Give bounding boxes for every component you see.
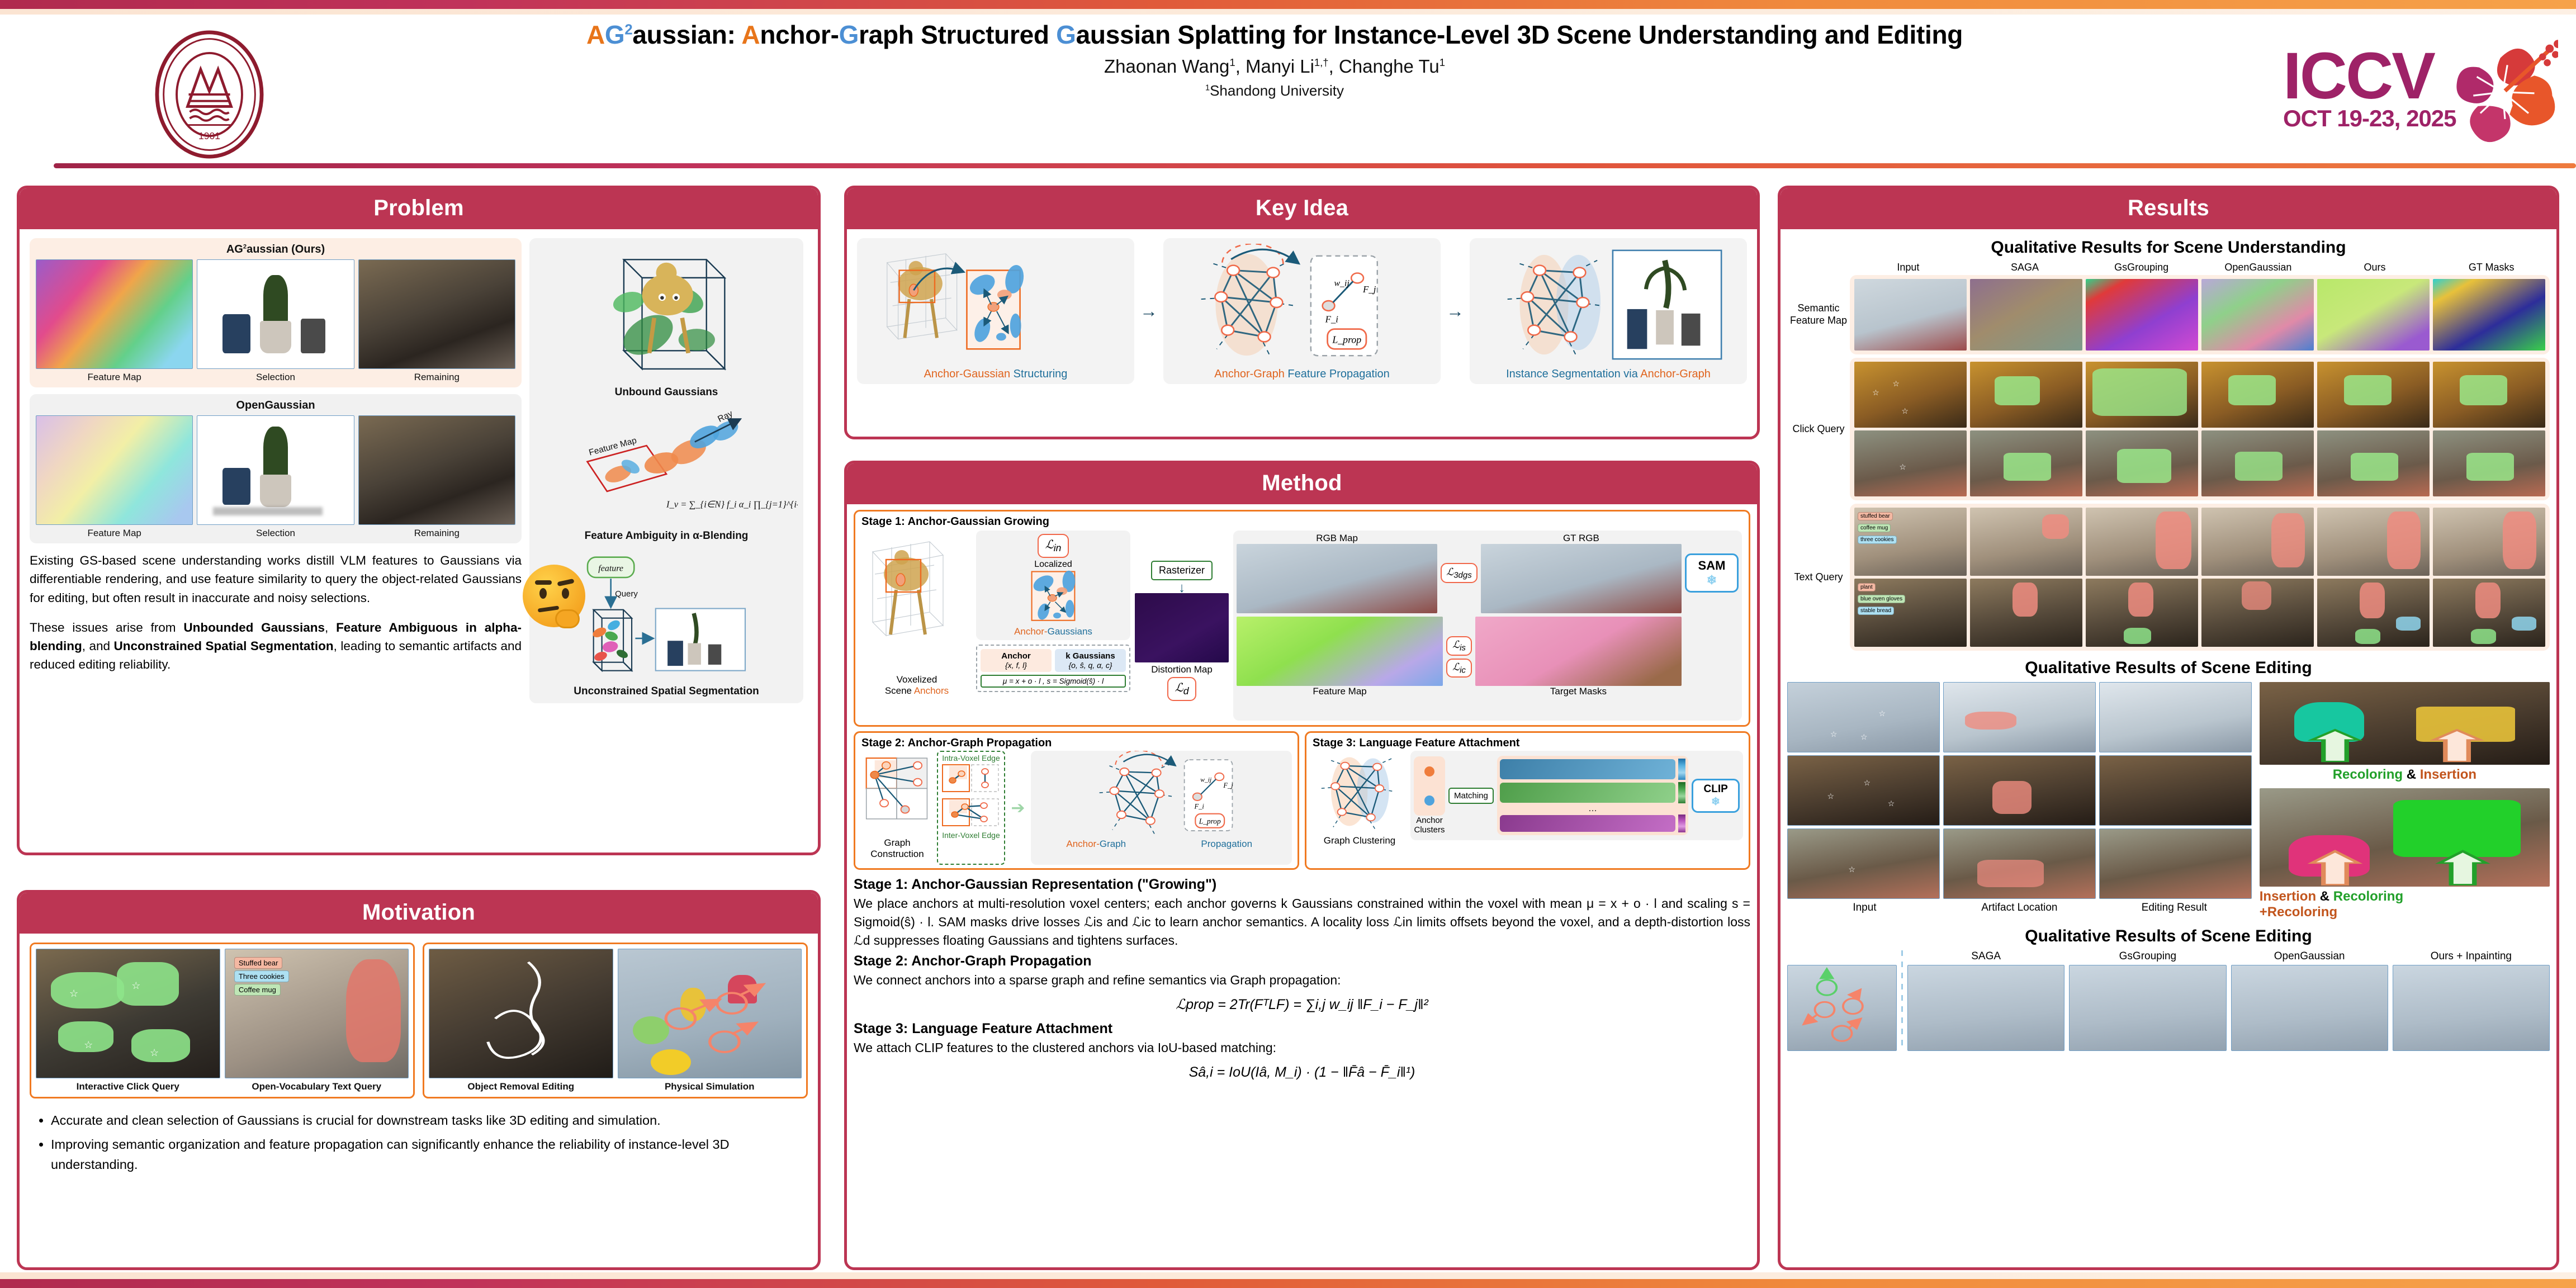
- feature-i-label: F_i: [1325, 314, 1339, 325]
- editing-showcase: Recoloring & Insertion Insertion & Recol…: [2260, 682, 2550, 920]
- result-image: [2201, 430, 2314, 496]
- p2-mid-2: , and: [82, 639, 114, 653]
- column-header: SAGA: [1907, 950, 2064, 965]
- motivation-cell: Stuffed bear Three cookies Coffee mug Op…: [225, 949, 409, 1092]
- result-image: [1854, 279, 1967, 351]
- voxelized-scene-anchors: Voxelized Scene Anchors: [862, 531, 972, 721]
- image-feature-map-opengaussian: [36, 415, 193, 525]
- comparison-card-ours-title: AG2aussian (Ours): [36, 243, 515, 256]
- bottom-gradient-bar-2: [0, 1272, 2576, 1279]
- result-image: ☆: [1854, 430, 1967, 496]
- header-divider: [54, 163, 2576, 168]
- comparison-cell: Remaining: [358, 415, 515, 539]
- table-row: ☆ ☆ ☆: [1787, 682, 2252, 752]
- image-feature-map-ours: [36, 259, 193, 369]
- image-caption: Open-Vocabulary Text Query: [225, 1081, 409, 1092]
- result-image: [2393, 965, 2550, 1051]
- method-stage-2-equation: ℒprop = 2Tr(FᵀLF) = ∑i,j w_ij ‖F_i − F_j…: [854, 996, 1750, 1013]
- panel-method: Method Stage 1: Anchor-Gaussian Growing: [844, 461, 1760, 1270]
- anchor-cluster-dot-blue: [1424, 795, 1434, 806]
- result-image: ☆ ☆ ☆: [1787, 755, 1940, 826]
- voxelized-caption-line2: Scene Anchors: [862, 685, 972, 697]
- column-header: Input: [1850, 262, 1967, 273]
- image-caption: Selection: [197, 528, 354, 539]
- results-understanding-title: Qualitative Results for Scene Understand…: [1787, 238, 2550, 257]
- problem-paragraph-1: Existing GS-based scene understanding wo…: [30, 551, 522, 607]
- method-stage-1-title: Stage 1: Anchor-Gaussian Representation …: [854, 877, 1750, 893]
- image-selection-opengaussian: [197, 415, 354, 525]
- result-image: [2069, 965, 2226, 1051]
- loss-in-pill: ℒin: [1038, 534, 1069, 558]
- method-stage-3-body: We attach CLIP features to the clustered…: [854, 1039, 1750, 1057]
- problem-paragraph-2: These issues arise from Unbounded Gaussi…: [30, 618, 522, 674]
- query-tag: three cookies: [1858, 536, 1896, 544]
- inter-voxel-label: Inter-Voxel Edge: [940, 831, 1002, 840]
- poster-header: 1901 AG2aussian: Anchor-Graph Structured…: [0, 15, 2576, 163]
- column-header: OpenGaussian: [2231, 950, 2388, 965]
- comparison-cell: Selection: [197, 415, 354, 539]
- column-header: Artifact Location: [1942, 902, 2097, 914]
- table-row: stuffed bear coffee mug three cookies: [1854, 508, 2545, 576]
- target-masks-caption: Target Masks: [1475, 686, 1682, 697]
- label-recoloring: Recoloring: [2333, 889, 2403, 904]
- result-image: ☆ ☆ ☆: [1787, 682, 1940, 752]
- unconstrained-segmentation-caption: Unconstrained Spatial Segmentation: [535, 685, 798, 698]
- query-tag: Three cookies: [234, 970, 289, 982]
- result-image: [2099, 682, 2252, 752]
- rgb-map-caption: RGB Map: [1237, 533, 1437, 544]
- query-tag: blue oven gloves: [1858, 595, 1905, 603]
- query-tag: coffee mug: [1858, 524, 1891, 532]
- image-caption: Interactive Click Query: [36, 1081, 220, 1092]
- anchor-word: Anchor-: [1066, 839, 1100, 849]
- result-image: [2317, 362, 2430, 428]
- image-instance-1: [1500, 759, 1675, 779]
- image-open-vocabulary-text-query: Stuffed bear Three cookies Coffee mug: [225, 949, 409, 1078]
- method-stage-3-equation: Sâ,i = IoU(Iâ, M_i) · (1 − ‖F̄â − F̄_i‖¹…: [854, 1064, 1750, 1081]
- query-tag: stuffed bear: [1858, 512, 1893, 520]
- row-label-click-query: Click Query: [1787, 358, 1850, 500]
- panel-problem: Problem AG2aussian (Ours) Feature Map: [17, 186, 821, 855]
- author-list: Zhaonan Wang1, Manyi Li1,†, Changhe Tu1: [280, 56, 2270, 77]
- anchor-matching-block: Anchor Clusters Matching: [1410, 751, 1743, 840]
- title-block: AG2aussian: Anchor-Graph Structured Gaus…: [280, 21, 2270, 100]
- key-idea-step-2: w_ij F_j F_i L_prop Anchor-Graph Feature…: [1163, 238, 1441, 384]
- result-image: [1943, 828, 2096, 899]
- result-image: [2317, 508, 2430, 576]
- editing2-grid: SAGA GsGrouping OpenGaussian Ours + Inpa…: [1787, 950, 2550, 1051]
- result-image: [1970, 279, 2082, 351]
- insertion-recoloring-label: Insertion & Recoloring +Recoloring: [2260, 889, 2550, 920]
- result-image: [1943, 682, 2096, 752]
- comparison-cell: Selection: [197, 259, 354, 383]
- method-stage-2-body: We connect anchors into a sparse graph a…: [854, 971, 1750, 989]
- loss-is-pill: ℒis: [1446, 636, 1472, 656]
- label-plus-recoloring: +Recoloring: [2260, 905, 2550, 920]
- result-image: [1907, 965, 2064, 1051]
- query-tag: stable bread: [1858, 607, 1894, 615]
- affiliation: 1Shandong University: [280, 82, 2270, 100]
- image-physical-simulation: [618, 949, 802, 1078]
- column-header: Ours: [2317, 262, 2433, 273]
- graph-construction-block: Graph Construction: [861, 751, 934, 865]
- method-stage-3-diagram: Stage 3: Language Feature Attachment: [1305, 731, 1750, 870]
- rasterizer-block: Rasterizer ↓ Distortion Map ℒd: [1135, 531, 1229, 721]
- result-image: [1970, 430, 2082, 496]
- results-row-semantic-feature-map: SemanticFeature Map: [1787, 275, 2550, 354]
- result-image: [2317, 279, 2430, 351]
- panel-results-title: Results: [1781, 188, 2556, 229]
- result-image: [2086, 579, 2198, 647]
- top-gradient-bar: [0, 0, 2576, 9]
- editing-column-captions: Input Artifact Location Editing Result: [1787, 902, 2252, 914]
- clip-feature-vector-2: [1678, 782, 1685, 803]
- weight-label: w_ij: [1200, 776, 1211, 783]
- image-instance-2: [1500, 783, 1675, 803]
- alpha-blend-equation: I_v = ∑_{i∈N} f_i α_i ∏_{j=1}^{i-1} (1 −…: [666, 499, 798, 510]
- stage-1-label: Stage 1: Anchor-Gaussian Growing: [861, 515, 1049, 528]
- result-image: [2086, 279, 2198, 351]
- panel-motivation: Motivation ☆ ☆ ☆ ☆: [17, 890, 821, 1270]
- image-remaining-ours: [358, 259, 515, 369]
- stage-2-label: Stage 2: Anchor-Graph Propagation: [861, 737, 1052, 750]
- image-rgb-map: [1237, 544, 1437, 613]
- image-caption: Feature Map: [36, 372, 193, 383]
- column-header: Editing Result: [2097, 902, 2252, 914]
- comparison-cell: Feature Map: [36, 415, 193, 539]
- iccv-conference-logo-icon: ICCV OCT 19-23, 2025: [2279, 27, 2558, 159]
- legend-anchor-title: Anchor: [982, 651, 1050, 661]
- editing-grid: ☆ ☆ ☆ ☆ ☆ ☆: [1787, 682, 2252, 920]
- inter-voxel-edge-icon: [940, 797, 1002, 828]
- motivation-group-understanding: ☆ ☆ ☆ ☆ Interactive Click Query Stuffed …: [30, 943, 415, 1098]
- result-image: [2086, 508, 2198, 576]
- key-idea-caption-1: Anchor-Gaussian Structuring: [861, 368, 1130, 381]
- clip-feature-vector-3: [1678, 815, 1685, 832]
- anchor-gaussians-block: ℒin Localized: [976, 531, 1130, 721]
- anchors-word: Anchors: [914, 685, 949, 696]
- image-object-removal-editing: [429, 949, 613, 1078]
- result-image: [2433, 508, 2545, 576]
- result-image: [1970, 508, 2082, 576]
- label-amp: &: [2403, 767, 2420, 782]
- hibiscus-flower-icon: [2456, 40, 2558, 142]
- query-tag: plant: [1858, 583, 1876, 591]
- column-header: GsGrouping: [2083, 262, 2200, 273]
- comparison-card-opengaussian-title: OpenGaussian: [36, 399, 515, 412]
- clip-box: CLIP ❄: [1692, 779, 1740, 813]
- feature-j-label: F_j: [1223, 782, 1233, 789]
- image-recoloring-insertion: [2260, 682, 2550, 765]
- list-item: Accurate and clean selection of Gaussian…: [51, 1111, 808, 1130]
- distortion-map-caption: Distortion Map: [1135, 664, 1229, 675]
- intra-voxel-edge-icon: [940, 763, 1002, 794]
- snowflake-icon: ❄: [1707, 573, 1717, 587]
- result-image: [2317, 579, 2430, 647]
- column-header: GT Masks: [2433, 262, 2550, 273]
- result-image: [2433, 430, 2545, 496]
- ellipsis-label: …: [1500, 806, 1685, 812]
- clip-label: CLIP: [1704, 783, 1728, 795]
- panel-results: Results Qualitative Results for Scene Un…: [1778, 186, 2559, 1270]
- gt-rgb-caption: GT RGB: [1481, 533, 1682, 544]
- label-recoloring: Recoloring: [2333, 767, 2403, 782]
- graph-clustering-icon: [1312, 751, 1407, 832]
- caption-part-a: Anchor-Graph: [1214, 368, 1285, 380]
- results-editing-title: Qualitative Results of Scene Editing: [1787, 659, 2550, 678]
- p2-bold-3: Unconstrained Spatial Segmentation: [114, 639, 334, 653]
- anchor-gaussian-structuring-diagram-icon: [861, 244, 1130, 366]
- anchor-legend: Anchor {x, f, l} k Gaussians {o, ŝ, q, α…: [976, 645, 1130, 692]
- method-stage-3-title: Stage 3: Language Feature Attachment: [854, 1021, 1750, 1037]
- intra-voxel-label: Intra-Voxel Edge: [940, 754, 1002, 763]
- editing2-cell: Ours + Inpainting: [2393, 950, 2550, 1051]
- image-gt-rgb: [1481, 544, 1682, 613]
- result-image: ☆ ☆ ☆: [1854, 362, 1967, 428]
- caption-part-a: Instance Segmentation via: [1506, 368, 1640, 380]
- feature-map-caption: Feature Map: [1237, 686, 1443, 697]
- table-row: ☆ ☆ ☆: [1854, 362, 2545, 428]
- anchor-gaussian-box-icon: [981, 570, 1126, 623]
- editing2-cell: GsGrouping: [2069, 950, 2226, 1051]
- flow-arrow-icon: →: [1140, 301, 1158, 321]
- motivation-cell: ☆ ☆ ☆ ☆ Interactive Click Query: [36, 949, 220, 1092]
- method-stage-1-diagram: Stage 1: Anchor-Gaussian Growing: [854, 510, 1750, 727]
- image-target-masks: [1475, 617, 1682, 686]
- image-distortion-map: [1135, 593, 1229, 662]
- unbound-gaussians-caption: Unbound Gaussians: [535, 386, 798, 399]
- propagation-caption: Propagation: [1162, 839, 1292, 850]
- caption-part-b: Anchor-Graph: [1640, 368, 1711, 380]
- method-stage-2-title: Stage 2: Anchor-Graph Propagation: [854, 953, 1750, 969]
- anchor-graph-propagation-block: w_ij F_j F_i L_prop Anchor-Graph Propaga…: [1031, 751, 1292, 865]
- method-stage-2-diagram: Stage 2: Anchor-Graph Propagation: [854, 731, 1299, 870]
- key-idea-caption-3: Instance Segmentation via Anchor-Graph: [1474, 368, 1742, 381]
- stage-3-label: Stage 3: Language Feature Attachment: [1313, 737, 1519, 750]
- p2-pre: These issues arise from: [30, 621, 183, 634]
- feature-i-label: F_i: [1194, 803, 1205, 811]
- editing2-cell: OpenGaussian: [2231, 950, 2388, 1051]
- panel-key-idea-title: Key Idea: [847, 188, 1757, 229]
- legend-k-gaussians: k Gaussians {o, ŝ, q, α, c}: [1055, 649, 1126, 672]
- result-image: [2201, 279, 2314, 351]
- page-title: AG2aussian: Anchor-Graph Structured Gaus…: [280, 21, 2270, 48]
- column-header: Input: [1787, 902, 1942, 914]
- image-feature-map-method: [1237, 617, 1443, 686]
- localized-label: Localized: [981, 560, 1126, 570]
- loss-d-pill: ℒd: [1167, 677, 1197, 701]
- anchor-graph-icon: w_ij F_j F_i L_prop: [1031, 751, 1292, 836]
- logo-year: 1901: [198, 130, 220, 141]
- image-interactive-click-query: ☆ ☆ ☆ ☆: [36, 949, 220, 1078]
- p2-mid-1: ,: [325, 621, 336, 634]
- recoloring-insertion-label: Recoloring & Insertion: [2260, 767, 2550, 783]
- unbound-gaussians-diagram-icon: [535, 244, 798, 383]
- column-header: SAGA: [1967, 262, 2083, 273]
- result-image: [2201, 579, 2314, 647]
- thinking-face-icon: [523, 565, 585, 627]
- graph-construction-icon: [861, 751, 934, 835]
- result-image: [2433, 362, 2545, 428]
- iccv-wordmark: ICCV: [2283, 39, 2435, 113]
- results-column-headers: Input SAGA GsGrouping OpenGaussian Ours …: [1787, 262, 2550, 273]
- result-image: [2086, 362, 2198, 428]
- problem-illustrations: Unbound Gaussians Feature Map Ray I_v = …: [529, 238, 803, 703]
- anchor-graph-propagation-diagram-icon: w_ij F_j F_i L_prop: [1168, 244, 1436, 366]
- result-image: [2433, 279, 2545, 351]
- down-arrow-icon: ↓: [1135, 583, 1229, 593]
- comparison-card-opengaussian: OpenGaussian Feature Map Selection: [30, 394, 522, 543]
- p2-bold-1: Unbounded Gaussians: [183, 621, 325, 634]
- label-insertion: Insertion: [2260, 889, 2316, 904]
- label-insertion: Insertion: [2420, 767, 2476, 782]
- motivation-group-editing: Object Removal Editing: [423, 943, 808, 1098]
- image-instance-3: [1500, 815, 1675, 832]
- alpha-blending-caption: Feature Ambiguity in α-Blending: [535, 530, 798, 542]
- result-image: [2231, 965, 2388, 1051]
- image-caption: Remaining: [358, 372, 515, 383]
- panel-key-idea: Key Idea: [844, 186, 1760, 439]
- result-image: [2086, 430, 2198, 496]
- panel-method-title: Method: [847, 463, 1757, 504]
- sam-box: SAM ❄: [1685, 553, 1739, 593]
- image-caption: Selection: [197, 372, 354, 383]
- anchor-clusters-caption: Anchor Clusters: [1414, 816, 1445, 835]
- loss-prop-label: L_prop: [1332, 334, 1361, 345]
- list-item: Improving semantic organization and feat…: [51, 1135, 808, 1175]
- image-caption: Feature Map: [36, 528, 193, 539]
- query-tag: Coffee mug: [234, 984, 281, 996]
- gaussians-word: Gaussians: [1048, 626, 1092, 637]
- shandong-university-logo-icon: 1901: [155, 30, 264, 159]
- row-label-text-query: Text Query: [1787, 504, 1850, 651]
- sam-label: SAM: [1698, 558, 1726, 572]
- anchor-gaussians-caption: Anchor-Gaussians: [981, 626, 1126, 637]
- image-caption: Remaining: [358, 528, 515, 539]
- graph-word: Graph: [1100, 839, 1126, 849]
- results-row-text-query: Text Query stuffed bear coffee mug three…: [1787, 504, 2550, 651]
- table-row: plant blue oven gloves stable bread: [1854, 579, 2545, 647]
- loss-3dgs-pill: ℒ3dgs: [1441, 563, 1478, 584]
- top-gradient-bar-2: [0, 9, 2576, 15]
- image-editing2-input: [1787, 965, 1897, 1051]
- anchor-word: Anchor-: [1014, 626, 1048, 637]
- iccv-dates: OCT 19-23, 2025: [2283, 105, 2456, 131]
- green-arrow-icon: ➔: [1008, 751, 1027, 865]
- column-header: GsGrouping: [2069, 950, 2226, 965]
- motivation-bullet-list: Accurate and clean selection of Gaussian…: [51, 1111, 808, 1175]
- vertical-divider: [1901, 950, 1903, 1051]
- label-amp: &: [2316, 889, 2333, 904]
- loss-ic-pill: ℒic: [1446, 659, 1472, 678]
- key-idea-caption-2: Anchor-Graph Feature Propagation: [1168, 368, 1436, 381]
- query-tag: Stuffed bear: [234, 957, 283, 969]
- loss-prop-label: L_prop: [1199, 817, 1221, 826]
- caption-part-b: Feature Propagation: [1285, 368, 1390, 380]
- clip-feature-vector-1: [1678, 759, 1685, 780]
- feature-pill-label: feature: [598, 563, 623, 573]
- anchor-graph-caption: Anchor-Graph: [1031, 839, 1162, 850]
- image-caption: Object Removal Editing: [429, 1081, 613, 1092]
- scene-word: Scene: [885, 685, 914, 696]
- graph-construction-caption: Graph Construction: [861, 837, 934, 860]
- editing2-cell: SAGA: [1907, 950, 2064, 1051]
- result-image: stuffed bear coffee mug three cookies: [1854, 508, 1967, 576]
- comparison-card-ours: AG2aussian (Ours) Feature Map Selec: [30, 238, 522, 387]
- table-row: ☆ ☆ ☆: [1787, 755, 2252, 826]
- legend-k-title: k Gaussians: [1056, 651, 1125, 661]
- matching-box: Matching: [1448, 788, 1494, 804]
- column-header: Ours + Inpainting: [2393, 950, 2550, 965]
- table-row: [1854, 279, 2545, 351]
- weight-label: w_ij: [1334, 278, 1349, 288]
- alpha-blending-diagram-icon: Feature Map Ray I_v = ∑_{i∈N} f_i α_i ∏_…: [535, 410, 798, 527]
- table-row: ☆: [1854, 430, 2545, 496]
- caption-part-a: Anchor-Gaussian: [924, 368, 1011, 380]
- snowflake-icon: ❄: [1711, 796, 1720, 808]
- method-stage-1-body: We place anchors at multi-resolution vox…: [854, 894, 1750, 950]
- result-image: [2201, 508, 2314, 576]
- legend-k-symbols: {o, ŝ, q, α, c}: [1056, 661, 1125, 670]
- motivation-cell: Object Removal Editing: [429, 949, 613, 1092]
- result-image: [1943, 755, 2096, 826]
- comparison-cell: Feature Map: [36, 259, 193, 383]
- result-image: [2317, 430, 2430, 496]
- result-image: [1970, 362, 2082, 428]
- image-caption: Physical Simulation: [618, 1081, 802, 1092]
- panel-motivation-title: Motivation: [20, 893, 818, 934]
- instance-segmentation-diagram-icon: [1474, 244, 1742, 366]
- image-remaining-opengaussian: [358, 415, 515, 525]
- flow-arrow-icon: →: [1446, 301, 1464, 321]
- rasterizer-box: Rasterizer: [1151, 561, 1213, 580]
- legend-formula: μ = x + o · l , s = Sigmoid(ŝ) · l: [981, 675, 1126, 688]
- table-row: ☆: [1787, 828, 2252, 899]
- result-image: [2099, 828, 2252, 899]
- voxel-edge-legend: Intra-Voxel Edge: [937, 751, 1005, 865]
- anchor-cluster-dot-orange: [1424, 766, 1434, 776]
- result-image: [2099, 755, 2252, 826]
- caption-part-b: Structuring: [1010, 368, 1067, 380]
- result-image: [2433, 579, 2545, 647]
- legend-anchor: Anchor {x, f, l}: [981, 649, 1052, 672]
- graph-clustering-caption: Graph Clustering: [1312, 835, 1407, 846]
- key-idea-step-3: Instance Segmentation via Anchor-Graph: [1470, 238, 1747, 384]
- voxel-grid-icon: [862, 531, 972, 670]
- legend-anchor-symbols: {x, f, l}: [982, 661, 1050, 670]
- key-idea-step-1: Anchor-Gaussian Structuring: [857, 238, 1134, 384]
- bottom-gradient-bar: [0, 1279, 2576, 1288]
- supervision-block: RGB Map ℒ3dgs GT RGB SAM ❄: [1233, 531, 1742, 721]
- voxelized-caption-line1: Voxelized: [862, 674, 972, 685]
- result-image: plant blue oven gloves stable bread: [1854, 579, 1967, 647]
- image-selection-ours: [197, 259, 354, 369]
- column-header: OpenGaussian: [2200, 262, 2317, 273]
- panel-problem-title: Problem: [20, 188, 818, 229]
- row-label-semantic-feature-map: SemanticFeature Map: [1787, 275, 1850, 354]
- results-row-click-query: Click Query ☆ ☆ ☆: [1787, 358, 2550, 500]
- feature-j-label: F_j: [1362, 284, 1376, 295]
- query-label: Query: [615, 589, 638, 599]
- result-image: [2201, 362, 2314, 428]
- motivation-cell: Physical Simulation: [618, 949, 802, 1092]
- result-image: [1970, 579, 2082, 647]
- graph-clustering-block: Graph Clustering: [1312, 751, 1407, 846]
- result-image: ☆: [1787, 828, 1940, 899]
- comparison-cell: Remaining: [358, 259, 515, 383]
- image-insertion-recoloring: [2260, 788, 2550, 887]
- results-editing2-title: Qualitative Results of Scene Editing: [1787, 927, 2550, 946]
